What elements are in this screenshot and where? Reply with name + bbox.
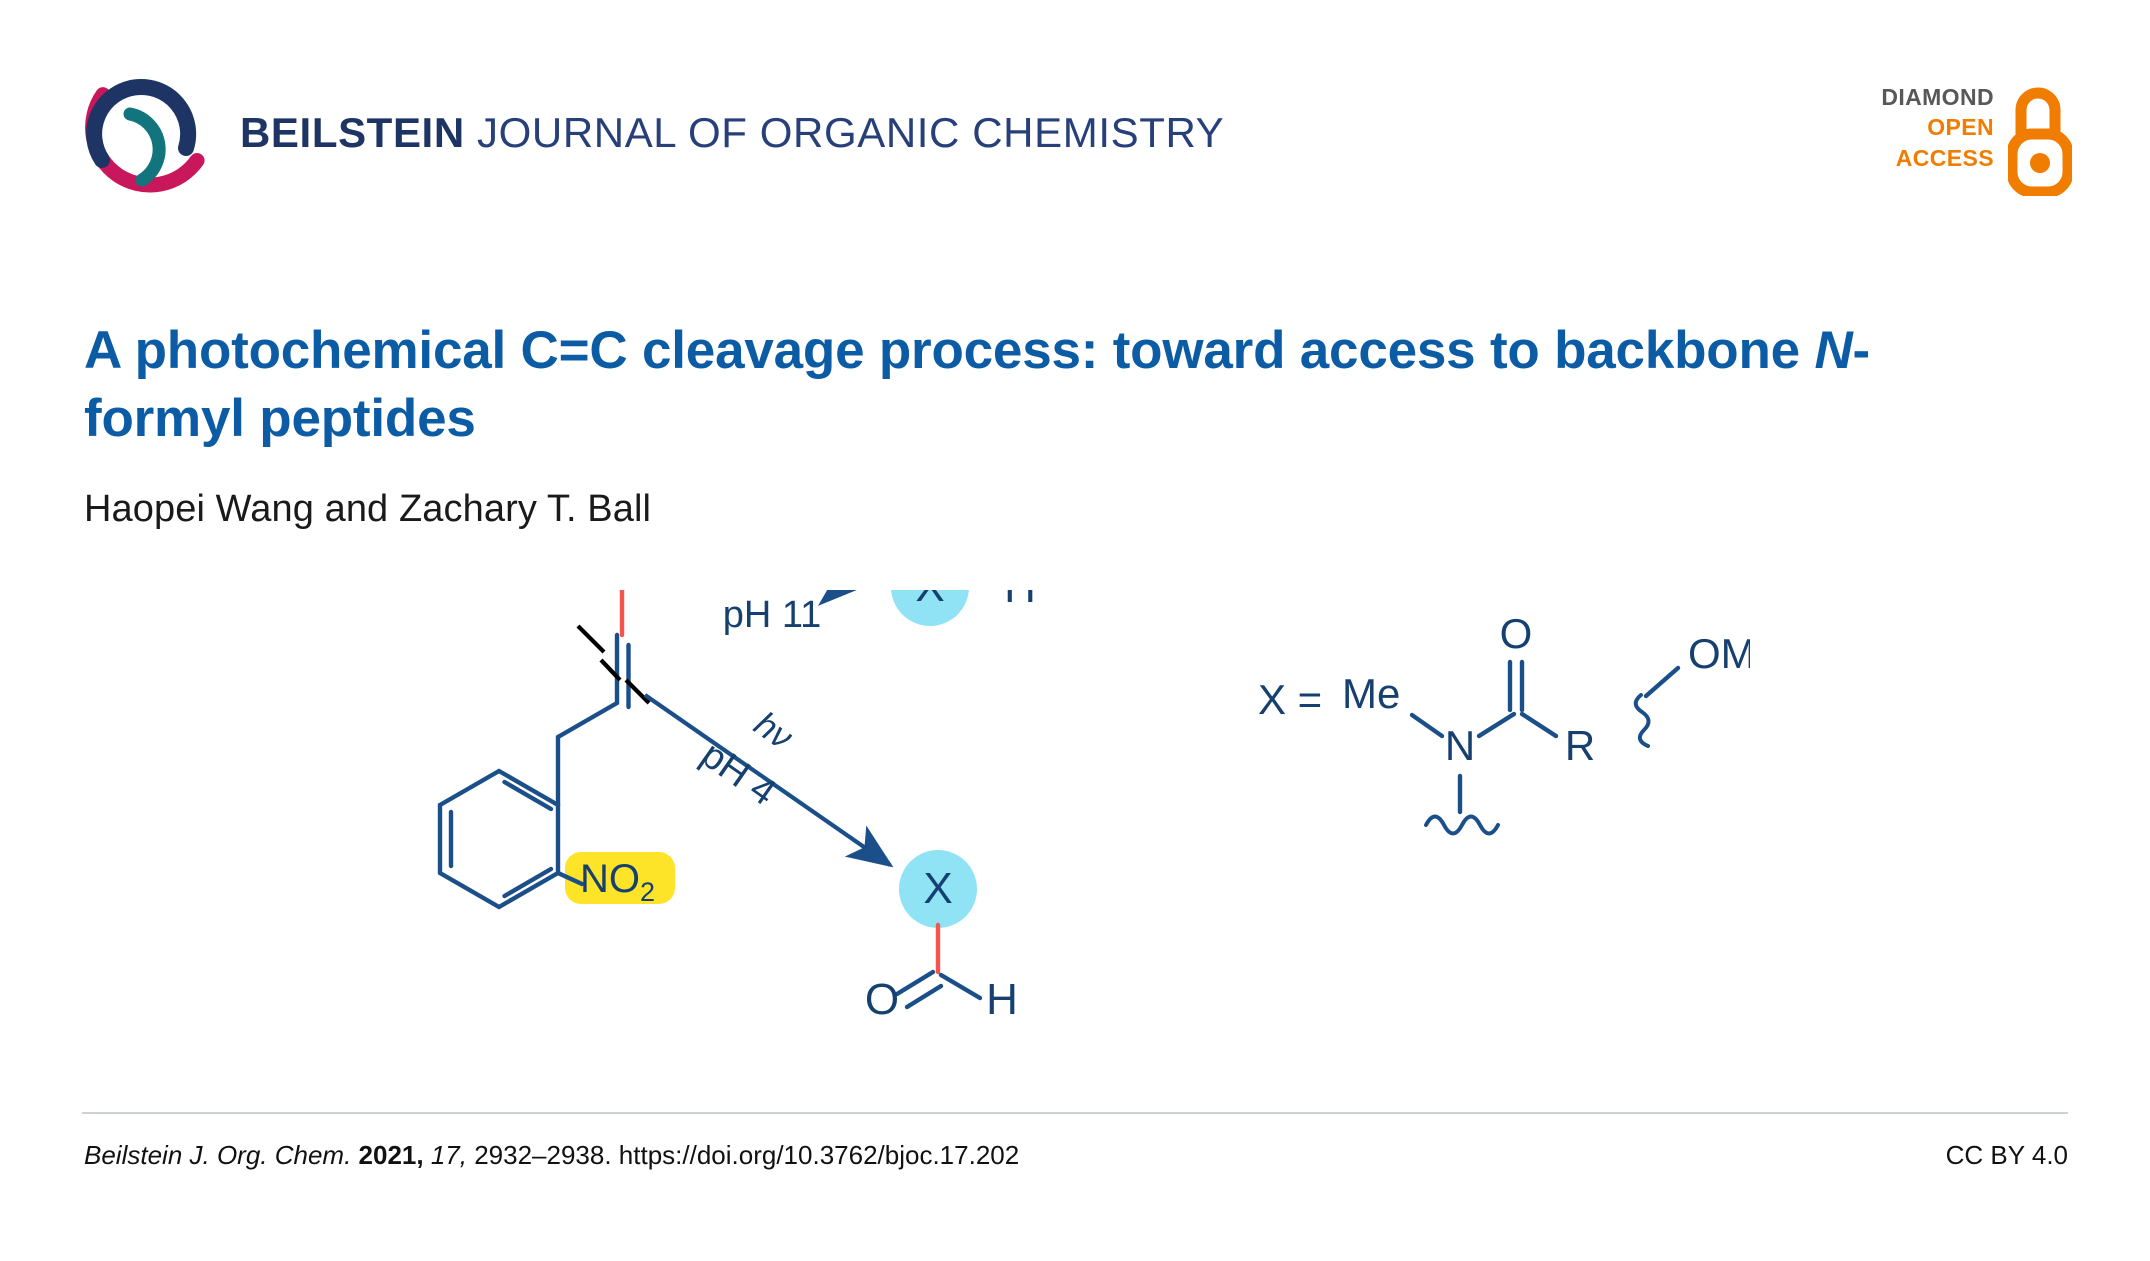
diamond-open-access-badge: DIAMOND OPEN ACCESS: [1852, 82, 2072, 200]
citation-journal: Beilstein J. Org. Chem.: [84, 1140, 351, 1170]
svg-text:OMe: OMe: [1688, 630, 1750, 677]
open-access-line-diamond: DIAMOND: [1881, 82, 1994, 112]
svg-text:X: X: [923, 864, 952, 913]
open-lock-icon: [2008, 84, 2072, 196]
wordmark-subtitle: JOURNAL OF ORGANIC CHEMISTRY: [465, 109, 1224, 156]
journal-wordmark: BEILSTEIN JOURNAL OF ORGANIC CHEMISTRY: [240, 112, 1224, 154]
svg-text:hν: hν: [747, 704, 800, 757]
open-access-text: DIAMOND OPEN ACCESS: [1881, 82, 1994, 173]
wordmark-beilstein: BEILSTEIN: [240, 109, 465, 156]
license-label: CC BY 4.0: [1946, 1140, 2068, 1171]
svg-text:R: R: [1565, 722, 1595, 769]
svg-text:Me: Me: [1342, 670, 1400, 717]
author-list: Haopei Wang and Zachary T. Ball: [84, 488, 651, 531]
svg-text:X =: X =: [1258, 676, 1322, 723]
graphical-abstract: NO2 X hν pH 11 X H hν pH 4 X O H X: [430, 590, 1750, 1090]
citation-year: 2021,: [351, 1140, 423, 1170]
footer-citation: Beilstein J. Org. Chem. 2021, 17, 2932–2…: [84, 1140, 1019, 1171]
page-masthead: BEILSTEIN JOURNAL OF ORGANIC CHEMISTRY D…: [0, 0, 2150, 230]
title-text-before: A photochemical C=C cleavage process: to…: [84, 321, 1814, 380]
svg-text:N: N: [1445, 722, 1475, 769]
svg-text:H: H: [986, 975, 1018, 1024]
open-access-line-access: ACCESS: [1881, 143, 1994, 173]
svg-text:pH 11: pH 11: [723, 594, 822, 636]
title-italic-n: N: [1814, 321, 1852, 380]
svg-text:O: O: [865, 975, 899, 1024]
svg-text:O: O: [1500, 610, 1533, 657]
page-title: A photochemical C=C cleavage process: to…: [84, 317, 1984, 454]
beilstein-triple-arc-logo: [82, 68, 210, 196]
svg-text:H: H: [1004, 590, 1036, 612]
open-access-line-open: OPEN: [1881, 112, 1994, 142]
svg-text:X: X: [915, 590, 944, 611]
footer-divider: [82, 1112, 2068, 1114]
citation-volume: 17,: [424, 1140, 467, 1170]
citation-pages-doi[interactable]: 2932–2938. https://doi.org/10.3762/bjoc.…: [467, 1140, 1019, 1170]
